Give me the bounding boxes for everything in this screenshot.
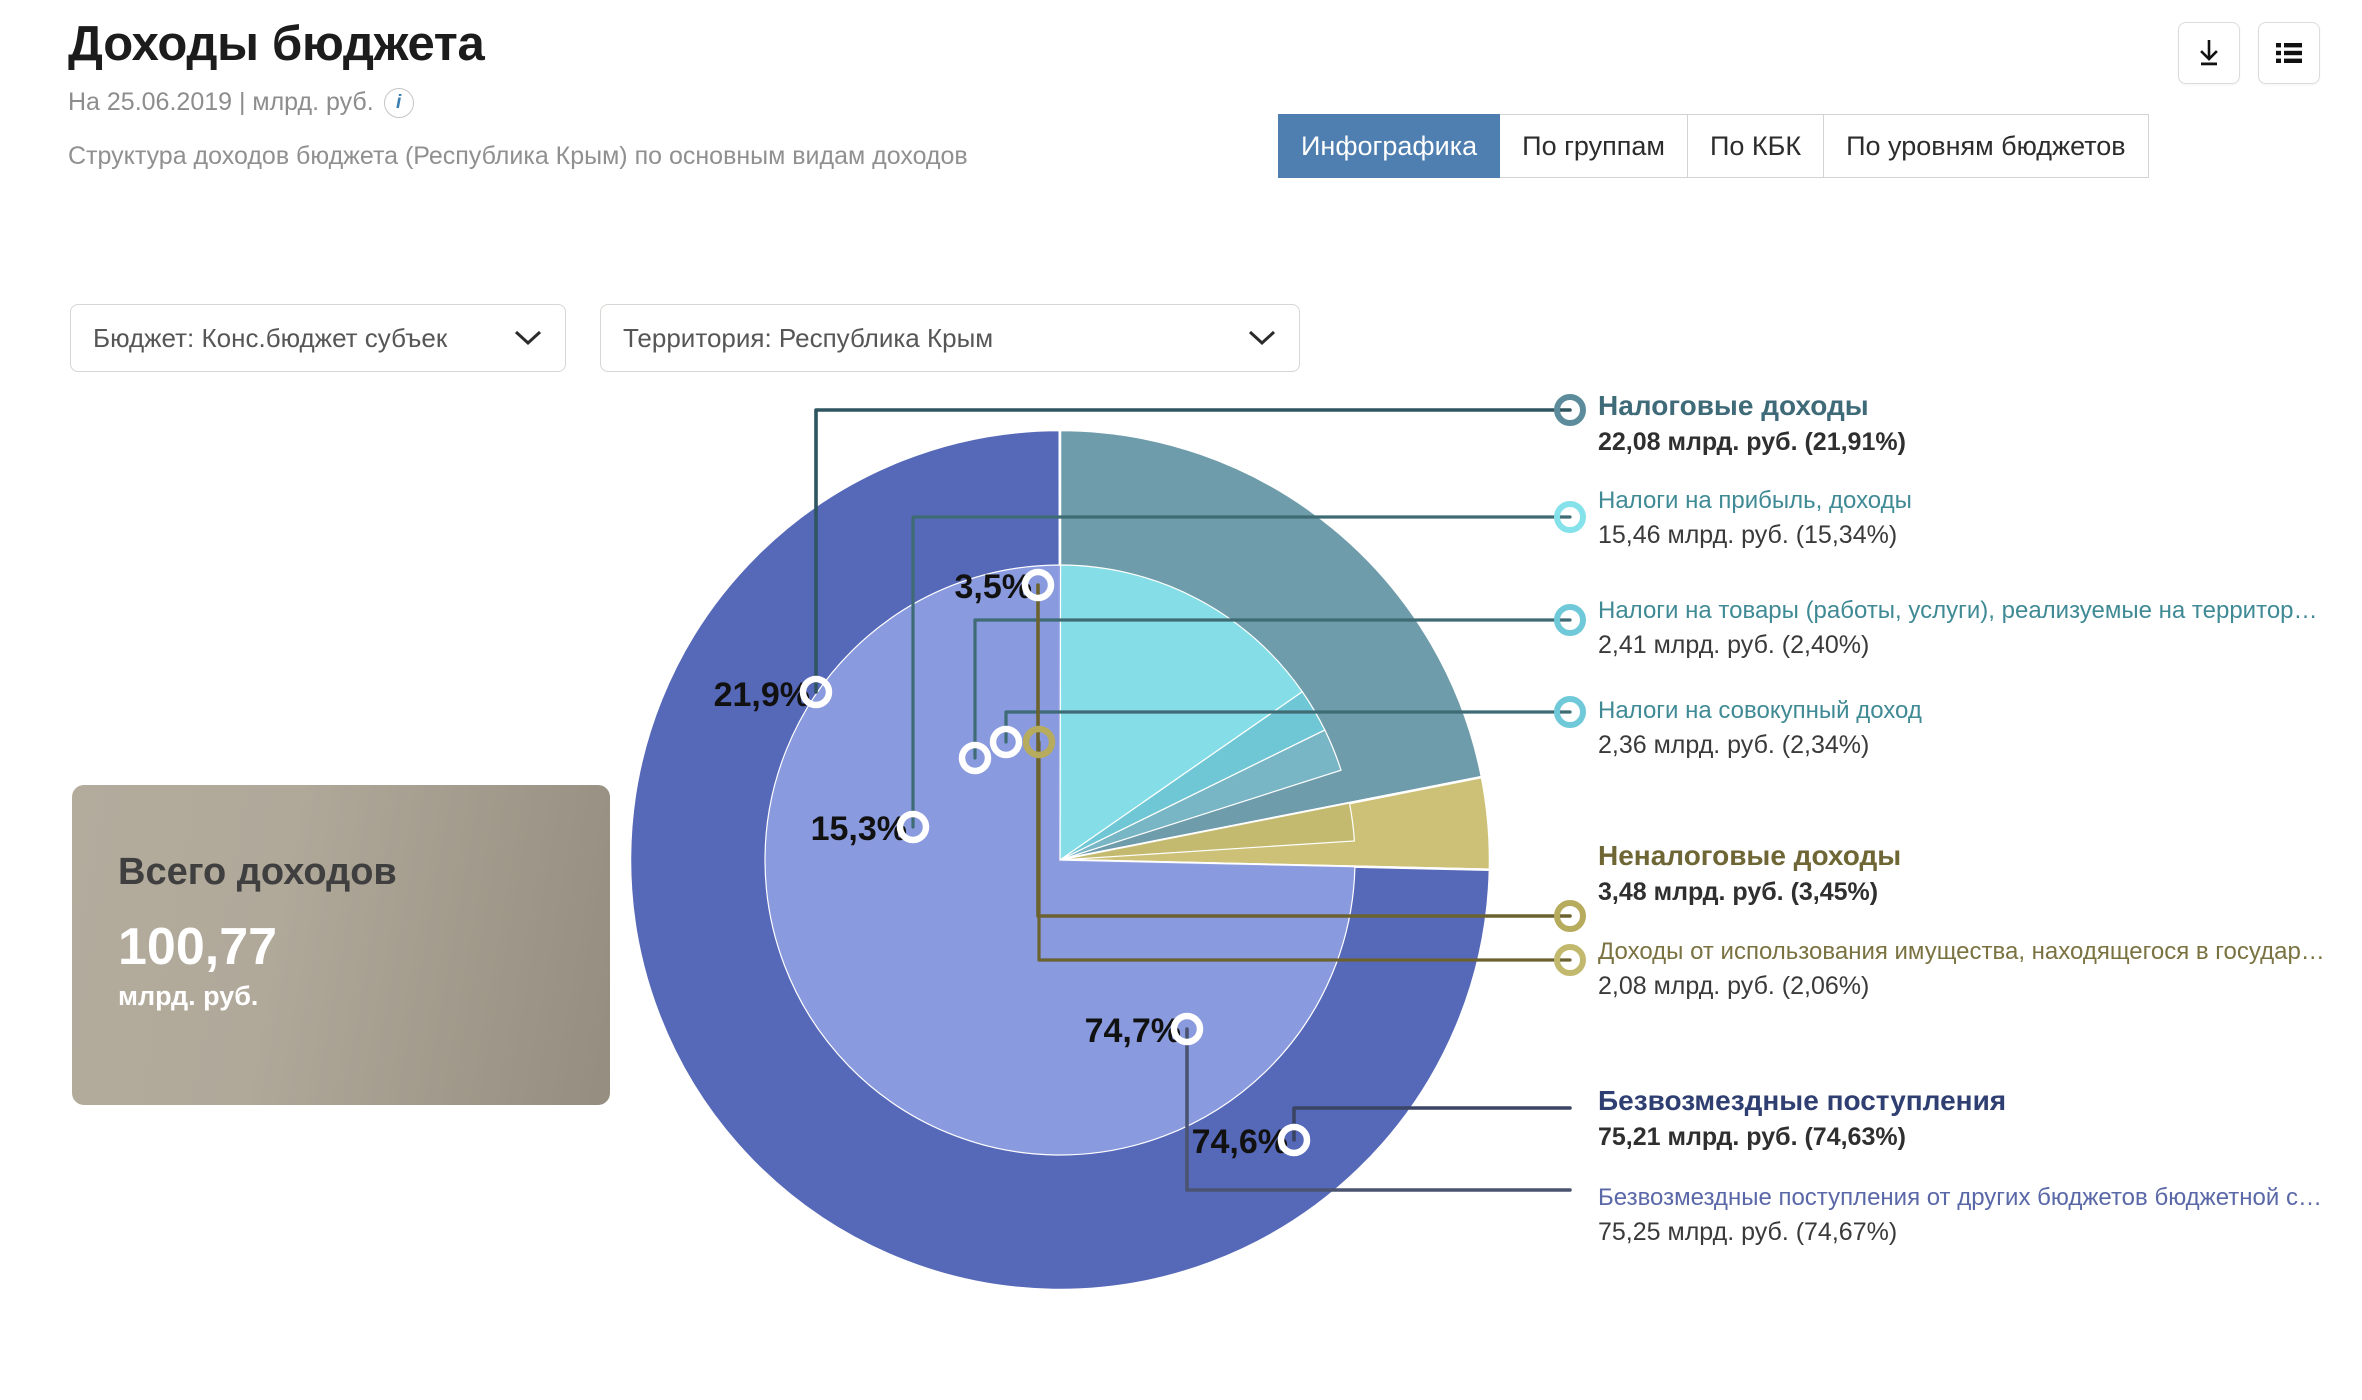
pie-percent-label: 74,6% xyxy=(1192,1123,1288,1161)
legend-label: Доходы от использования имущества, наход… xyxy=(1598,938,2328,966)
infographic-page: Доходы бюджета На 25.06.2019 | млрд. руб… xyxy=(0,0,2362,1400)
legend-item-gratuitous-other-budgets[interactable]: Безвозмездные поступления от других бюдж… xyxy=(1598,1184,2328,1246)
legend-item-goods-tax[interactable]: Налоги на товары (работы, услуги), реали… xyxy=(1598,597,2328,659)
legend-item-nontax-income[interactable]: Неналоговые доходы 3,48 млрд. руб. (3,45… xyxy=(1598,840,1901,907)
legend-amount: 2,41 млрд. руб. (2,40%) xyxy=(1598,631,2328,660)
legend-item-tax-income[interactable]: Налоговые доходы 22,08 млрд. руб. (21,91… xyxy=(1598,390,1906,457)
legend-item-aggregate-tax[interactable]: Налоги на совокупный доход 2,36 млрд. ру… xyxy=(1598,697,1922,759)
legend-amount: 2,08 млрд. руб. (2,06%) xyxy=(1598,972,2328,1001)
legend-label: Налоги на прибыль, доходы xyxy=(1598,487,1912,515)
pie-percent-label: 15,3% xyxy=(811,810,907,848)
legend-label: Налоговые доходы xyxy=(1598,390,1906,422)
legend-amount: 75,25 млрд. руб. (74,67%) xyxy=(1598,1218,2328,1247)
legend-amount: 15,46 млрд. руб. (15,34%) xyxy=(1598,521,1912,550)
legend-amount: 75,21 млрд. руб. (74,63%) xyxy=(1598,1123,2006,1152)
legend-amount: 3,48 млрд. руб. (3,45%) xyxy=(1598,878,1901,907)
pie-percent-label: 21,9% xyxy=(714,676,810,714)
legend-item-property-income[interactable]: Доходы от использования имущества, наход… xyxy=(1598,938,2328,1000)
legend-item-profit-tax[interactable]: Налоги на прибыль, доходы 15,46 млрд. ру… xyxy=(1598,487,1912,549)
legend-amount: 22,08 млрд. руб. (21,91%) xyxy=(1598,428,1906,457)
legend-label: Безвозмездные поступления от других бюдж… xyxy=(1598,1184,2328,1212)
legend-label: Налоги на товары (работы, услуги), реали… xyxy=(1598,597,2328,625)
legend-label: Налоги на совокупный доход xyxy=(1598,697,1922,725)
legend-amount: 2,36 млрд. руб. (2,34%) xyxy=(1598,731,1922,760)
pie-percent-label: 3,5% xyxy=(955,568,1033,606)
pie-percent-label: 74,7% xyxy=(1085,1012,1181,1050)
legend-label: Безвозмездные поступления xyxy=(1598,1085,2006,1117)
legend-label: Неналоговые доходы xyxy=(1598,840,1901,872)
legend-item-gratuitous-income[interactable]: Безвозмездные поступления 75,21 млрд. ру… xyxy=(1598,1085,2006,1152)
